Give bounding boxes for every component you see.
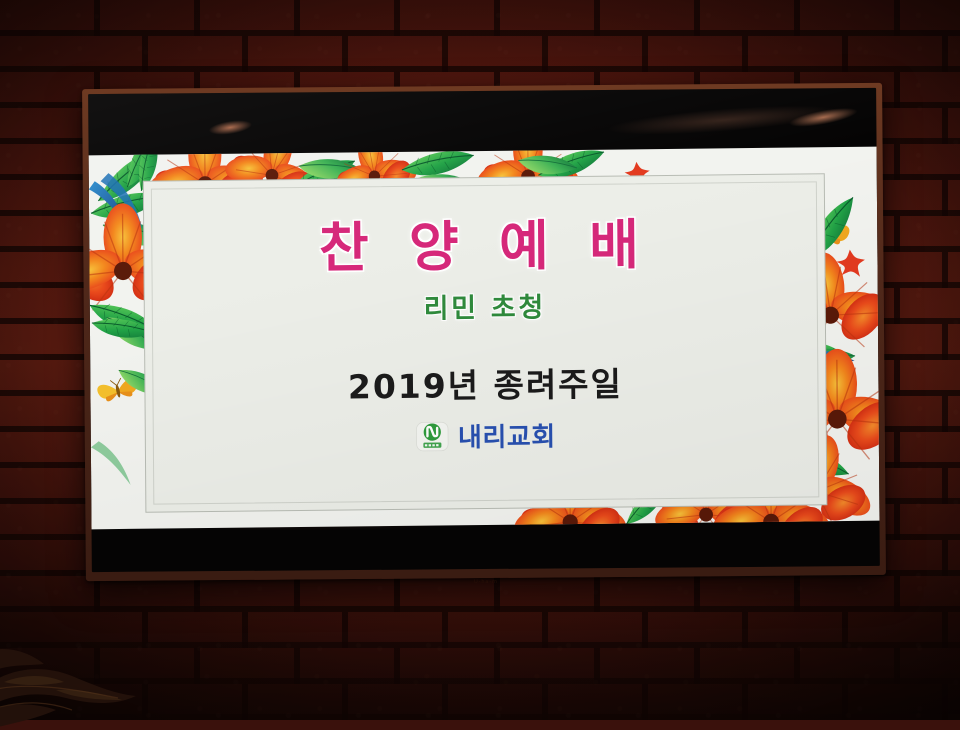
tv-screen[interactable]: 찬 양 예 배 리민 초청 2019년 종려주일 bbox=[88, 88, 880, 572]
slide-subtitle: 리민 초청 bbox=[424, 285, 547, 325]
screen-reflection-streak bbox=[608, 100, 839, 140]
church-branding: 내리교회 bbox=[416, 416, 556, 455]
slide-date-line: 2019년 종려주일 bbox=[348, 357, 623, 408]
wall-mounted-television[interactable]: 찬 양 예 배 리민 초청 2019년 종려주일 bbox=[82, 83, 886, 581]
presentation-slide: 찬 양 예 배 리민 초청 2019년 종려주일 bbox=[89, 147, 880, 530]
screen-reflection-highlight-right bbox=[788, 104, 859, 130]
screen-reflection-highlight bbox=[208, 118, 253, 137]
slide-title: 찬 양 예 배 bbox=[319, 218, 650, 276]
slide-inner-card: 찬 양 예 배 리민 초청 2019년 종려주일 bbox=[151, 181, 819, 504]
church-name-label: 내리교회 bbox=[458, 416, 556, 454]
church-logo-icon bbox=[416, 421, 449, 451]
tv-bezel-brand-label: U-ha-m bbox=[474, 579, 498, 585]
